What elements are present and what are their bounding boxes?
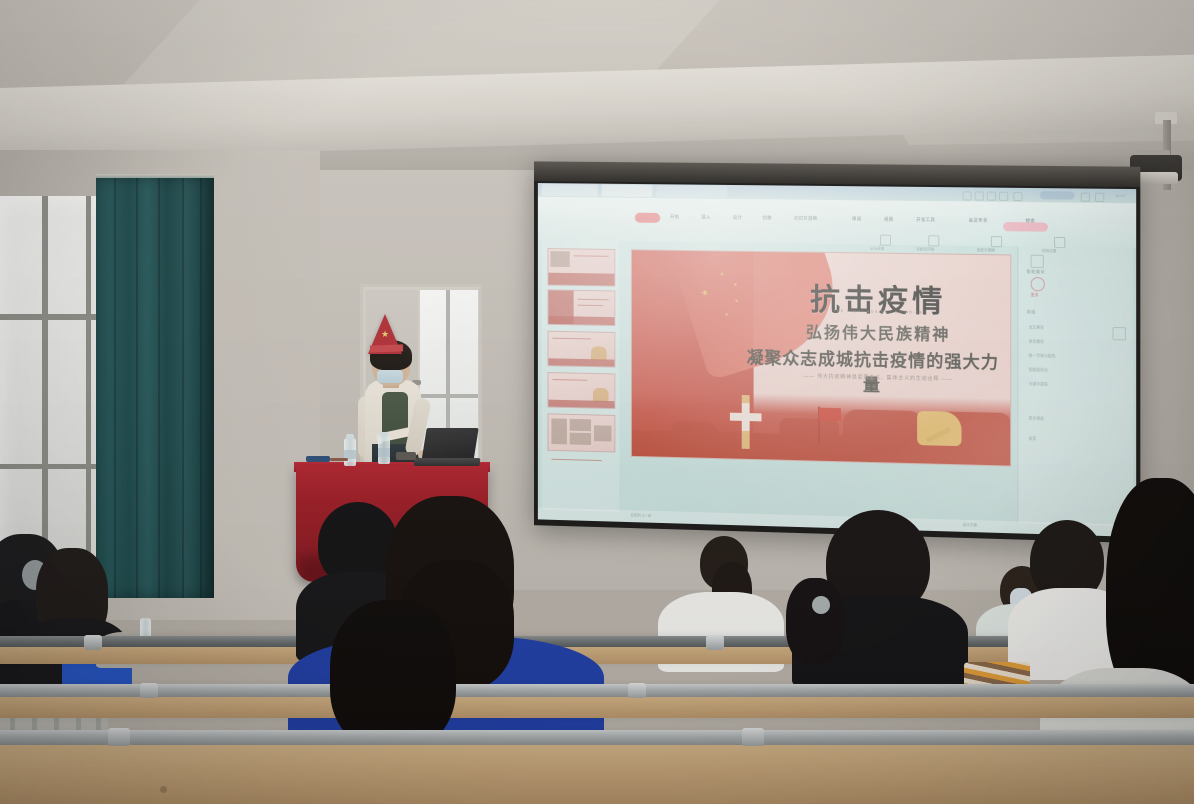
- status-left: 幻灯片 2 / 18: [631, 513, 651, 519]
- document-tab[interactable]: [602, 185, 653, 197]
- task-pane-footer: 更多模板: [1029, 416, 1044, 421]
- bench-rail-row-1: [0, 730, 1194, 745]
- ribbon-tab-member[interactable]: 会员专享: [969, 218, 988, 224]
- water-bottle-2[interactable]: [378, 436, 390, 464]
- cmd-label-3: 自定义放映: [977, 248, 995, 253]
- ribbon-tab-design[interactable]: 设计: [733, 215, 742, 221]
- refresh-icon[interactable]: [1031, 277, 1045, 291]
- play-current-icon[interactable]: [928, 235, 939, 246]
- slide-thumbnail-panel[interactable]: [542, 240, 620, 512]
- share-icon[interactable]: [975, 191, 984, 200]
- presenter-face-mask: [377, 370, 403, 383]
- window-mullion-horizontal: [0, 314, 108, 320]
- document-tab-2[interactable]: [656, 185, 727, 198]
- laptop-keyboard[interactable]: [414, 458, 481, 466]
- thumb-slide-2[interactable]: [548, 289, 616, 326]
- presenter-hat-star-icon: ★: [381, 330, 389, 339]
- window-mullion-vertical: [42, 196, 48, 596]
- ribbon-tab-file[interactable]: [635, 213, 660, 223]
- back-arrow-icon[interactable]: [987, 192, 996, 201]
- presenter-hat-band: [370, 344, 403, 352]
- rail-joint-2a: [140, 683, 158, 698]
- ribbon-tab-review[interactable]: 审阅: [852, 216, 861, 222]
- thumb-slide-5[interactable]: [548, 413, 616, 452]
- pen[interactable]: [330, 458, 348, 461]
- ribbon-tab-slideshow[interactable]: 幻灯片放映: [794, 216, 817, 222]
- task-pane-row-4[interactable]: 智能图形化: [1029, 368, 1048, 373]
- ribbon-tab-insert[interactable]: 插入: [701, 214, 710, 220]
- task-pane-row-5[interactable]: 关键字提炼: [1029, 382, 1048, 387]
- lecture-hall-photo: 11:47 开始 插入 设计 切换 幻灯片放映 审阅 视图 开发工具 会员专享 …: [0, 0, 1194, 804]
- task-pane-row-3[interactable]: 统一字体与配色: [1029, 354, 1056, 360]
- pane-icon-1[interactable]: [1031, 255, 1044, 268]
- bench-desk-row-1: [0, 738, 1194, 804]
- cloud-icon[interactable]: [963, 191, 972, 200]
- titlebar-right-controls: 11:47: [963, 189, 1137, 202]
- task-pane[interactable]: 智能美化 更多 排版 全文美化 单页美化 统一字体与配色 智能图形化 关键字提炼…: [1017, 246, 1133, 526]
- thumb-slide-3[interactable]: [548, 331, 616, 368]
- task-pane-section: 排版: [1027, 309, 1036, 315]
- slide-party-emblem: [917, 411, 961, 446]
- slide-subtitle-1: 弘扬伟大民族精神: [763, 318, 993, 346]
- play-from-start-icon[interactable]: [880, 235, 891, 246]
- teal-curtain[interactable]: [96, 178, 214, 598]
- ribbon-tab-start[interactable]: 开始: [670, 214, 679, 220]
- screen-surface: 11:47 开始 插入 设计 切换 幻灯片放映 审阅 视图 开发工具 会员专享 …: [538, 183, 1136, 537]
- bench-rail-row-2: [0, 684, 1194, 697]
- water-bottle-1[interactable]: [344, 438, 356, 466]
- projection-screen: 11:47 开始 插入 设计 切换 幻灯片放映 审阅 视图 开发工具 会员专享 …: [534, 161, 1140, 543]
- window-mullion-horizontal-2: [0, 464, 108, 469]
- ribbon-tab-transition[interactable]: 切换: [762, 215, 771, 221]
- rail-joint-3b: [706, 635, 724, 650]
- custom-show-icon[interactable]: [991, 236, 1002, 247]
- cmd-label-1: 从头开始: [870, 247, 884, 252]
- app-ribbon: 开始 插入 设计 切换 幻灯片放映 审阅 视图 开发工具 会员专享 搜索 从头开…: [538, 197, 1136, 248]
- slide-medical-cross-v: [742, 403, 750, 431]
- rail-joint-1b: [742, 728, 764, 746]
- desk-item-dark: [396, 452, 416, 460]
- rail-joint-1a: [108, 728, 130, 746]
- audience-head-mid-4: [786, 578, 844, 664]
- account-name-pill[interactable]: [1040, 191, 1075, 199]
- account-icon[interactable]: [1013, 192, 1022, 201]
- rail-joint-2b: [628, 683, 646, 698]
- task-pane-row-1[interactable]: 全文美化: [1029, 325, 1044, 330]
- laptop-screen[interactable]: [421, 428, 478, 462]
- task-pane-row-2[interactable]: 单页美化: [1029, 340, 1044, 345]
- ribbon-tab-view[interactable]: 视图: [884, 217, 893, 223]
- active-slide[interactable]: ★ ★ ★ ★ ★: [631, 249, 1011, 466]
- audience-hairtie: [812, 596, 830, 614]
- projector-lens: [1136, 172, 1178, 184]
- audience-head-near-1: [330, 600, 456, 750]
- status-right: 设计方案: [963, 523, 978, 528]
- slide-small-flag: [819, 408, 841, 422]
- task-pane-more[interactable]: 更多: [1031, 292, 1039, 298]
- window-icon[interactable]: [1095, 193, 1104, 202]
- rail-joint-3a: [84, 635, 102, 650]
- search-icon[interactable]: [1081, 193, 1090, 202]
- forward-arrow-icon[interactable]: [999, 192, 1008, 201]
- water-bottle-2-cap: [380, 432, 388, 437]
- notebook[interactable]: [306, 456, 330, 462]
- task-pane-footer-2[interactable]: 查看: [1029, 437, 1037, 442]
- app-title: [542, 184, 598, 196]
- thumb-slide-4[interactable]: [548, 372, 616, 409]
- ribbon-tab-developer[interactable]: 开发工具: [916, 217, 935, 223]
- window-mullion-vertical-2: [86, 196, 91, 596]
- clock-label: 11:47: [1116, 193, 1126, 198]
- water-bottle-1-cap: [346, 434, 354, 439]
- member-promo-button[interactable]: [1003, 222, 1048, 232]
- task-pane-title: 智能美化: [1027, 269, 1046, 275]
- desk-knot: [160, 786, 167, 793]
- cmd-label-2: 当前页开始: [916, 247, 934, 252]
- thumb-slide-1[interactable]: [548, 248, 616, 286]
- pane-icon-2[interactable]: [1113, 327, 1126, 340]
- slide-silhouette-band: [632, 391, 1010, 466]
